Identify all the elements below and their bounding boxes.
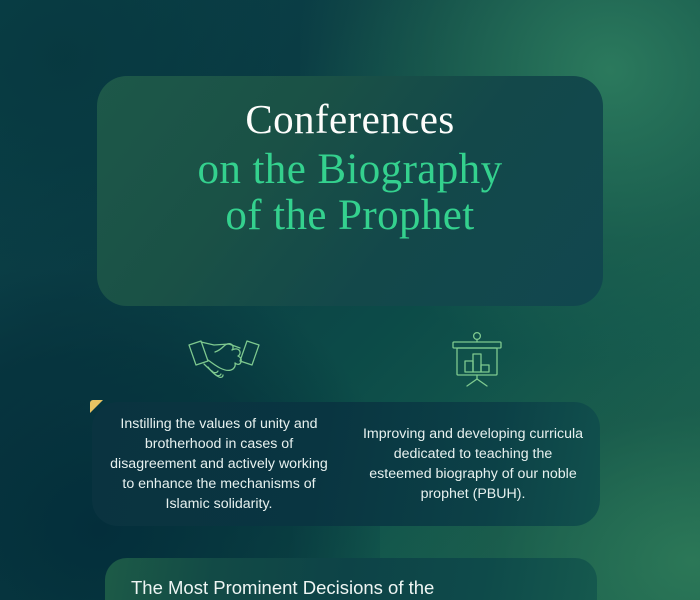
highlight-item-1: Instilling the values of unity and broth…: [92, 402, 346, 526]
page-title: Conferences on the Biography of the Prop…: [97, 76, 603, 239]
hero-card: Conferences on the Biography of the Prop…: [97, 76, 603, 306]
decisions-card: The Most Prominent Decisions of the: [105, 558, 597, 600]
highlights-card: Instilling the values of unity and broth…: [92, 402, 600, 526]
corner-accent-marker: [90, 400, 103, 413]
highlight-text-2: Improving and developing curricula dedic…: [362, 424, 584, 505]
handshake-icon: [184, 331, 264, 387]
decisions-heading: The Most Prominent Decisions of the: [131, 576, 571, 600]
title-line-tertiary: of the Prophet: [97, 193, 603, 239]
title-line-primary: Conferences: [97, 98, 603, 147]
highlight-item-2: Improving and developing curricula dedic…: [346, 402, 600, 526]
icons-row: [97, 326, 603, 392]
highlight-text-1: Instilling the values of unity and broth…: [108, 414, 330, 515]
presentation-chart-icon-cell: [350, 326, 603, 392]
title-line-secondary: on the Biography: [97, 147, 603, 193]
handshake-icon-cell: [97, 326, 350, 392]
presentation-chart-icon: [448, 331, 506, 387]
